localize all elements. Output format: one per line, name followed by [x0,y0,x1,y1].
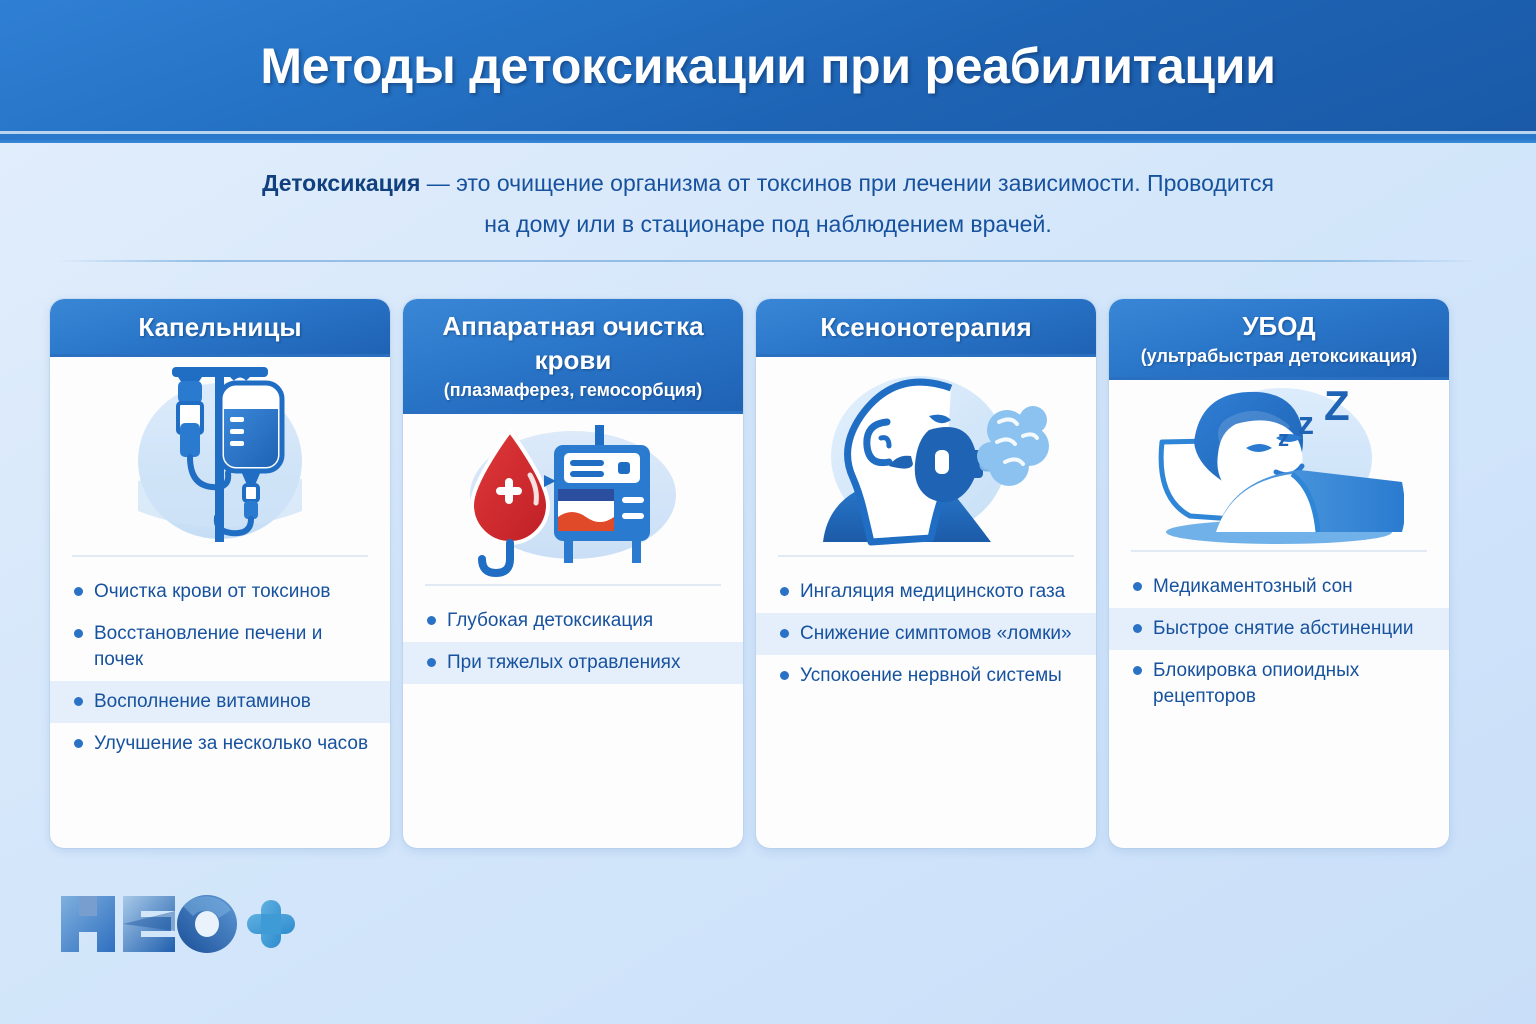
benefit-list-drip: Очистка крови от токсинов Восстановление… [50,557,390,848]
card-title-ubod: УБОД [1119,309,1439,343]
page-header: Методы детоксикации при реабилитации [0,0,1536,131]
list-item: Снижение симптомов «ломки» [756,613,1096,655]
method-card-ubod[interactable]: УБОД (ультрабыстрая детоксикация) [1109,299,1449,848]
list-item: Очистка крови от токсинов [50,571,390,613]
methods-card-grid: Капельницы [50,299,1486,848]
benefit-list-ubod: Медикаментозный сон Быстрое снятие абсти… [1109,552,1449,848]
card-header-ubod: УБОД (ультрабыстрая детоксикация) [1109,299,1449,380]
card-title-xenon: Ксенонотерапия [766,310,1086,344]
card-subtitle-ubod: (ультрабыстрая детоксикация) [1119,343,1439,369]
svg-text:Z: Z [1324,382,1350,429]
list-item: Медикаментозный сон [1109,566,1449,608]
iv-drip-icon [50,357,390,555]
list-item: Быстрое снятие абстиненции [1109,608,1449,650]
intro-text-line2: на дому или в стационаре под наблюдением… [484,211,1051,237]
svg-text:z: z [1298,405,1314,441]
benefit-list-apparatus: Глубокая детоксикация При тяжелых отравл… [403,586,743,848]
page-title: Методы детоксикации при реабилитации [260,37,1275,95]
method-card-apparatus[interactable]: Аппаратная очистка крови (плазмаферез, г… [403,299,743,848]
list-item: Восстановление печени и почек [50,613,390,681]
list-item: Успокоение нервной системы [756,655,1096,697]
method-card-drip[interactable]: Капельницы [50,299,390,848]
header-divider-blue [0,134,1536,143]
brand-logo[interactable]: HEO+ [57,888,297,960]
list-item: Блокировка опиоидных рецепторов [1109,650,1449,718]
benefit-list-xenon: Ингаляция медицинското газа Снижение сим… [756,557,1096,848]
sleeping-patient-icon: z z Z [1109,380,1449,550]
inhalation-mask-icon [756,357,1096,555]
list-item: Ингаляция медицинското газа [756,571,1096,613]
intro-paragraph: Детоксикация — это очищение организма от… [228,163,1308,245]
blood-purification-machine-icon [403,414,743,584]
list-item: Улучшение за несколько часов [50,723,390,765]
method-card-xenon[interactable]: Ксенонотерапия [756,299,1096,848]
card-header-drip: Капельницы [50,299,390,357]
intro-lead-term: Детоксикация [262,170,420,196]
card-header-xenon: Ксенонотерапия [756,299,1096,357]
list-item: При тяжелых отравлениях [403,642,743,684]
list-item: Восполнение витаминов [50,681,390,723]
card-header-apparatus: Аппаратная очистка крови (плазмаферез, г… [403,299,743,414]
intro-divider [58,260,1478,262]
card-subtitle-apparatus: (плазмаферез, гемосорбция) [413,377,733,403]
svg-text:z: z [1278,426,1289,451]
intro-text-rest: — это очищение организма от токсинов при… [420,170,1274,196]
card-title-apparatus: Аппаратная очистка крови [413,309,733,377]
card-title-drip: Капельницы [60,310,380,344]
list-item: Глубокая детоксикация [403,600,743,642]
